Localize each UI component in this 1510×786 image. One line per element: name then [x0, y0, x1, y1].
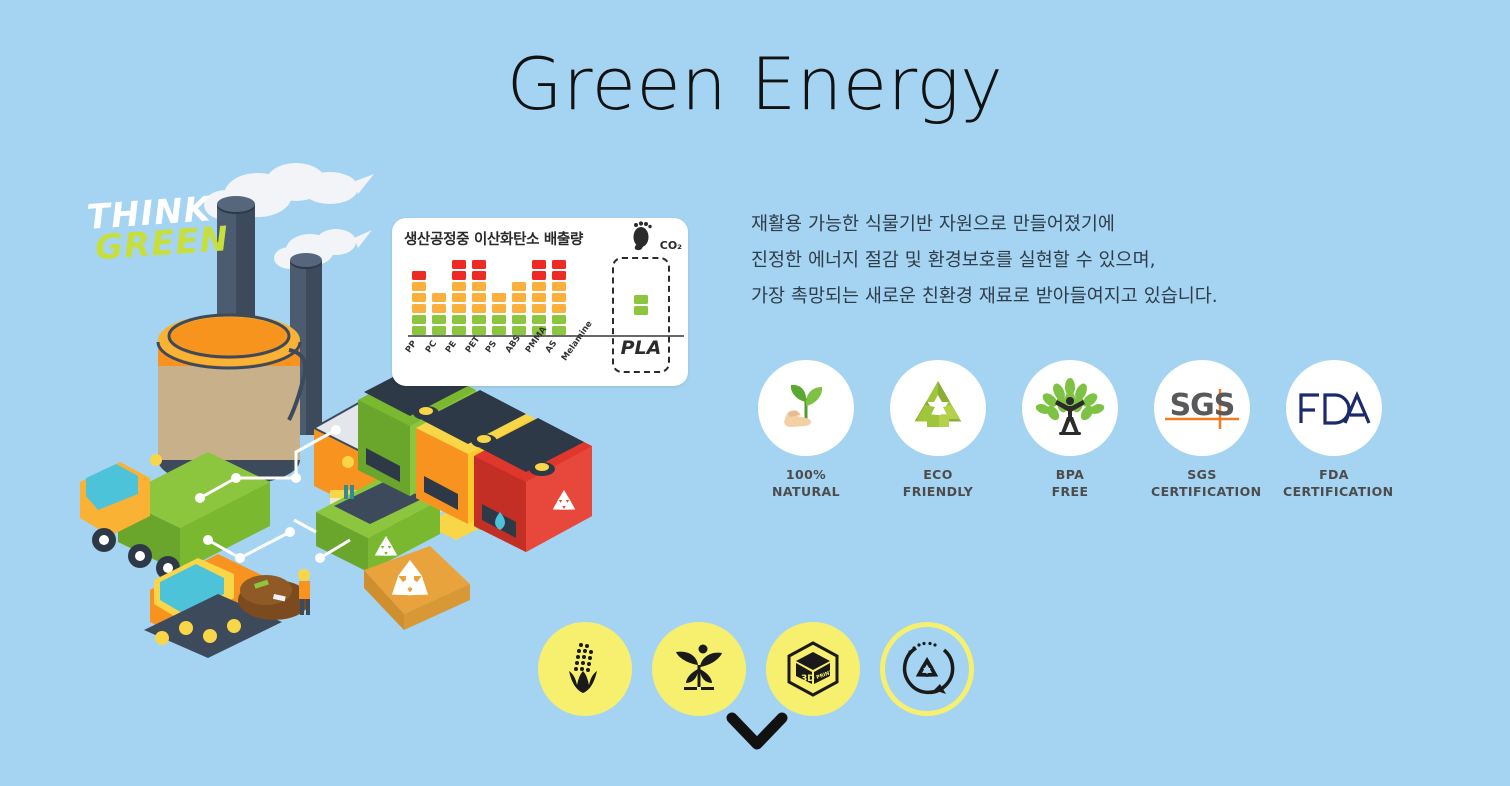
chart-bar-segment — [472, 304, 486, 313]
chart-bar-segment — [532, 271, 546, 280]
svg-text:3D: 3D — [801, 674, 815, 684]
copy-line-2: 진정한 에너지 절감 및 환경보호를 실현할 수 있으며, — [751, 243, 1371, 279]
badge-label-line1: SGS — [1187, 467, 1216, 482]
badge-label: 100% NATURAL — [755, 467, 857, 501]
chart-bar-segment — [492, 293, 506, 302]
badge-circle — [1022, 360, 1118, 456]
badge-circle — [758, 360, 854, 456]
chart-bar-segment — [472, 271, 486, 280]
chart-bar — [472, 260, 486, 335]
copy-line-3: 가장 촉망되는 새로운 친환경 재료로 받아들여지고 있습니다. — [751, 279, 1371, 315]
chart-plot-area: PPPCPEPETPSABSPMMAASMelamine PLA — [404, 253, 676, 379]
co2-emission-chart-card: 생산공정중 이산화탄소 배출량 CO₂ PPPCPEPETPSABSPMMAAS… — [392, 218, 688, 386]
sgs-logo-icon: SGS — [1163, 383, 1241, 433]
badge-eco-friendly[interactable]: ECO FRIENDLY — [887, 360, 989, 501]
co2-footprint-badge: CO₂ — [628, 220, 682, 252]
chart-bar-segment — [492, 304, 506, 313]
badge-label-line2: NATURAL — [772, 484, 840, 499]
pla-bar — [634, 295, 648, 315]
badge-label-line2: FRIENDLY — [903, 484, 973, 499]
chart-bar-segment — [452, 271, 466, 280]
badge-label-line1: ECO — [923, 467, 953, 482]
chart-bar-segment — [452, 326, 466, 335]
hand-sprout-icon — [774, 376, 838, 440]
chart-bar-segment — [512, 282, 526, 291]
chart-bar — [512, 282, 526, 335]
badge-100-natural[interactable]: 100% NATURAL — [755, 360, 857, 501]
badge-sgs-certification[interactable]: SGS SGS CERTIFICATION — [1151, 360, 1253, 501]
badge-circle — [890, 360, 986, 456]
3d-print-cube-icon: 3D PRINT — [784, 640, 842, 698]
chart-bar-segment — [412, 315, 426, 324]
badge-label-line1: FDA — [1319, 467, 1349, 482]
page-root: Green Energy — [0, 0, 1510, 786]
copy-line-1: 재활용 가능한 식물기반 자원으로 만들어졌기에 — [751, 207, 1371, 243]
chart-bar-segment — [552, 315, 566, 324]
feature-icon-sprout[interactable] — [652, 622, 746, 716]
chart-bar-segment — [432, 315, 446, 324]
chart-bar-segment — [552, 326, 566, 335]
chart-bar-segment — [552, 304, 566, 313]
chart-bar-segment — [512, 315, 526, 324]
chart-bar-segment — [552, 260, 566, 269]
chart-bar — [432, 293, 446, 335]
badge-label-line2: FREE — [1052, 484, 1089, 499]
chart-tick-label: PC — [424, 339, 439, 355]
chart-bar-segment — [552, 271, 566, 280]
chart-bar-segment — [472, 282, 486, 291]
badge-label-line1: BPA — [1056, 467, 1084, 482]
chart-tick-label: AS — [544, 339, 559, 355]
chart-bar-segment — [532, 282, 546, 291]
chart-bar-segment — [552, 282, 566, 291]
recycle-chat-icon — [896, 640, 958, 698]
chart-bar — [552, 260, 566, 335]
badge-label-line2: CERTIFICATION — [1283, 484, 1394, 499]
chart-bar-segment — [452, 293, 466, 302]
chart-bar-segment — [512, 293, 526, 302]
co2-footprint-icon — [628, 220, 658, 252]
chart-bar — [532, 260, 546, 335]
badge-label: ECO FRIENDLY — [887, 467, 989, 501]
chart-bar-segment — [492, 326, 506, 335]
chart-tick-label: PE — [444, 339, 459, 355]
chart-bar-segment — [452, 260, 466, 269]
chart-bars — [412, 257, 566, 335]
chart-bar-segment — [452, 304, 466, 313]
badge-label-line2: CERTIFICATION — [1151, 484, 1262, 499]
smoke-cloud-small — [274, 229, 372, 269]
feature-icon-row: 3D PRINT — [538, 622, 974, 716]
chart-bar — [452, 260, 466, 335]
chart-bar-segment — [532, 315, 546, 324]
page-title: Green Energy — [0, 48, 1510, 120]
chart-bar-segment — [412, 271, 426, 280]
chart-bar-segment — [492, 315, 506, 324]
badge-label: BPA FREE — [1019, 467, 1121, 501]
badge-bpa-free[interactable]: BPA FREE — [1019, 360, 1121, 501]
worker-figure-2 — [150, 454, 162, 466]
badge-circle — [1286, 360, 1382, 456]
chart-bar — [492, 293, 506, 335]
badge-fda-certification[interactable]: FDA CERTIFICATION — [1283, 360, 1385, 501]
body-copy: 재활용 가능한 식물기반 자원으로 만들어졌기에 진정한 에너지 절감 및 환경… — [751, 207, 1371, 315]
slogan-line-green: GREEN — [94, 224, 230, 265]
badge-label: FDA CERTIFICATION — [1283, 467, 1385, 501]
chevron-down-icon — [726, 712, 788, 754]
corn-icon — [561, 641, 609, 697]
chart-bar-segment — [472, 293, 486, 302]
pla-highlight-box: PLA — [612, 257, 670, 373]
feature-icon-3d-print[interactable]: 3D PRINT — [766, 622, 860, 716]
chart-bar-segment — [512, 304, 526, 313]
chart-bar-segment — [472, 315, 486, 324]
certification-badges: 100% NATURAL — [755, 360, 1385, 501]
chart-bar-segment — [412, 293, 426, 302]
fda-logo-icon — [1295, 385, 1373, 431]
chart-tick-label: PS — [484, 339, 499, 355]
scroll-down-indicator[interactable] — [726, 712, 788, 759]
badge-circle: SGS — [1154, 360, 1250, 456]
chart-tick-label: ABS — [504, 334, 523, 355]
chart-bar-segment — [532, 260, 546, 269]
chart-tick-label: PET — [464, 335, 482, 355]
chart-tick-label: PP — [404, 339, 419, 355]
orange-storage-tank — [158, 314, 305, 486]
chart-bar-segment — [432, 293, 446, 302]
tree-person-icon — [1035, 375, 1105, 441]
svg-text:SGS: SGS — [1170, 388, 1235, 423]
pla-label: PLA — [614, 337, 668, 359]
chart-bar-segment — [432, 304, 446, 313]
chart-bar-segment — [472, 260, 486, 269]
chart-bar-segment — [452, 282, 466, 291]
co2-label: CO₂ — [660, 239, 682, 252]
chart-bar-segment — [412, 326, 426, 335]
chart-bar-segment — [452, 315, 466, 324]
chart-bar-segment — [532, 293, 546, 302]
chart-bar-segment — [532, 304, 546, 313]
chart-bar-segment — [634, 306, 648, 315]
sprout-icon — [672, 643, 726, 695]
feature-icon-recycle-chat[interactable] — [880, 622, 974, 716]
chart-bar-segment — [412, 304, 426, 313]
think-green-slogan: THINK GREEN — [86, 193, 230, 265]
chart-bar-segment — [634, 295, 648, 304]
chart-bar — [412, 271, 426, 335]
chart-bar-segment — [552, 293, 566, 302]
chart-bar-segment — [412, 282, 426, 291]
recycle-arrows-icon — [905, 375, 971, 441]
badge-label-line1: 100% — [786, 467, 826, 482]
feature-icon-corn[interactable] — [538, 622, 632, 716]
badge-label: SGS CERTIFICATION — [1151, 467, 1253, 501]
chart-bar-segment — [432, 326, 446, 335]
chart-tick-labels: PPPCPEPETPSABSPMMAASMelamine — [412, 337, 622, 373]
